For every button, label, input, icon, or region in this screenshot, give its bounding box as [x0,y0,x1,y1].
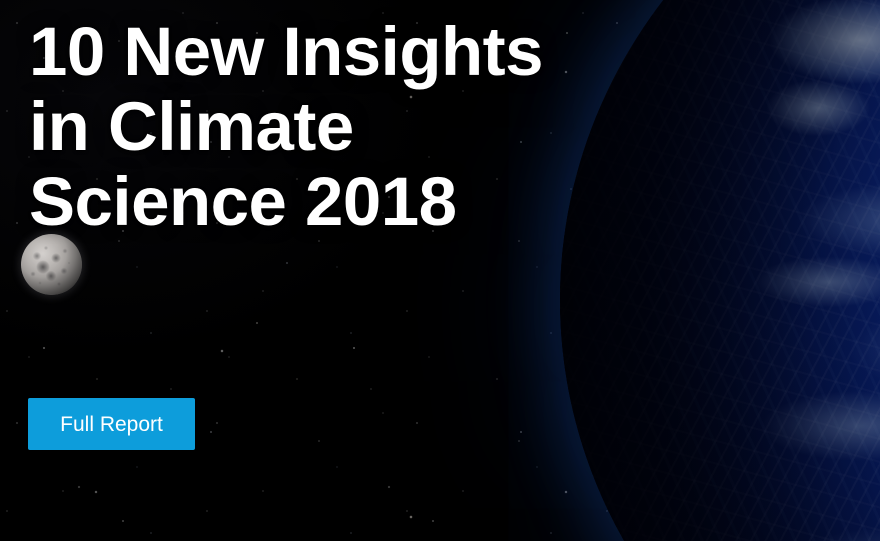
hero-banner: 10 New Insights in Climate Science 2018 … [0,0,880,541]
hero-content: 10 New Insights in Climate Science 2018 … [0,0,880,541]
full-report-button[interactable]: Full Report [28,398,195,450]
page-title: 10 New Insights in Climate Science 2018 [29,14,689,239]
